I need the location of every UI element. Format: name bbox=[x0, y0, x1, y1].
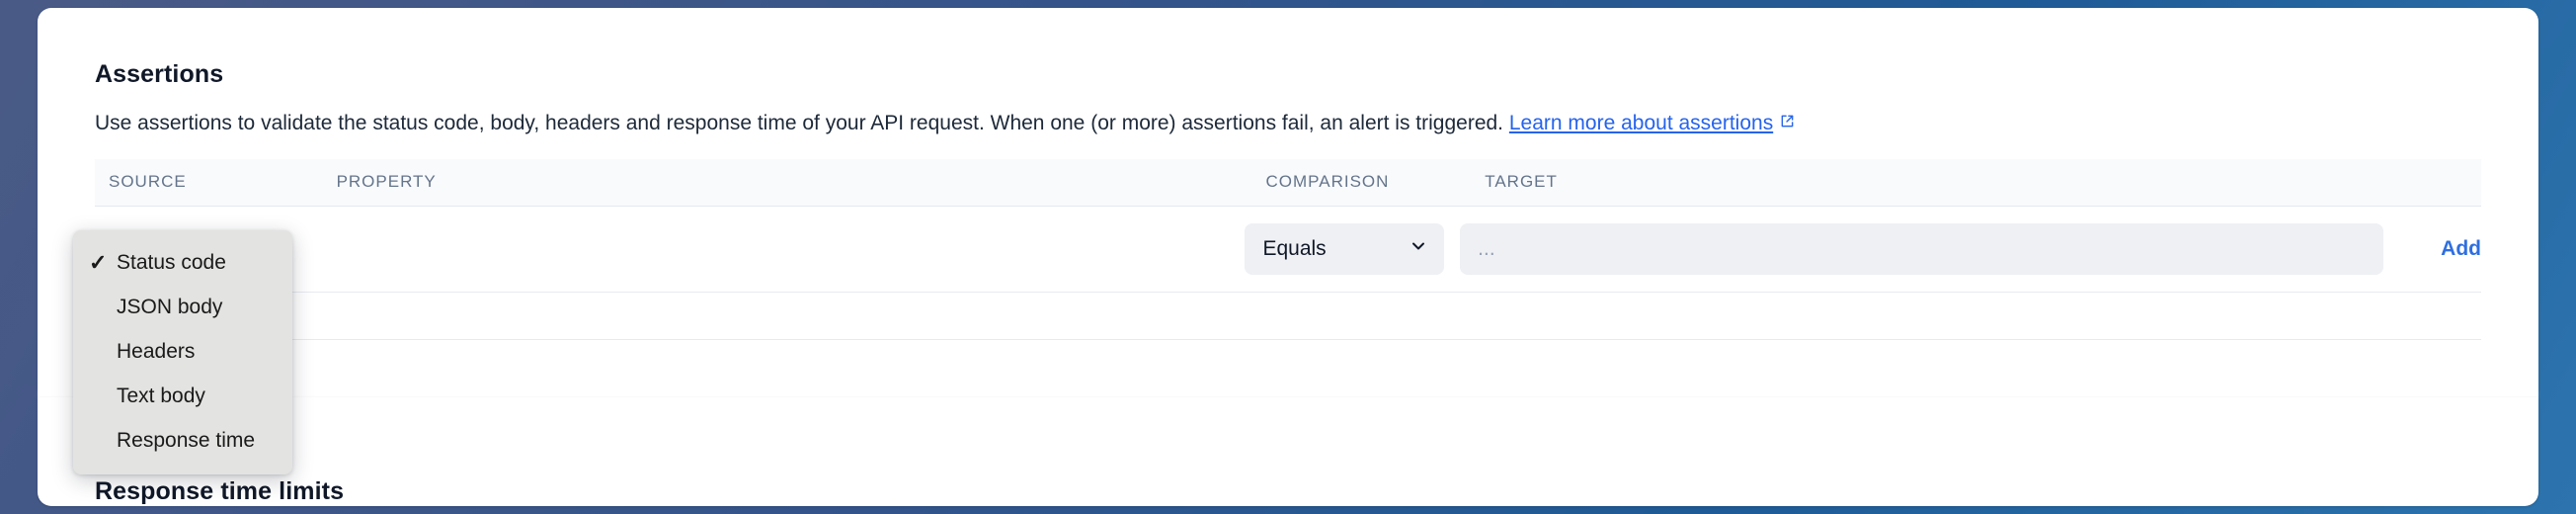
menu-item-label: Status code bbox=[117, 251, 226, 275]
external-link-icon[interactable] bbox=[1780, 114, 1795, 128]
menu-item-label: Text body bbox=[117, 385, 205, 408]
chevron-down-icon bbox=[1409, 236, 1428, 262]
assertion-action-cell: Add bbox=[2383, 237, 2481, 261]
comparison-select-value: Equals bbox=[1262, 237, 1326, 261]
add-button[interactable]: Add bbox=[2441, 237, 2481, 260]
menu-item-text-body[interactable]: Text body bbox=[73, 374, 292, 418]
row-divider-2 bbox=[95, 339, 2481, 340]
column-header-property: PROPERTY bbox=[337, 172, 1266, 192]
assertions-table: SOURCE PROPERTY COMPARISON TARGET Equals bbox=[95, 159, 2481, 340]
target-input[interactable] bbox=[1460, 223, 2383, 275]
response-time-limits-title: Response time limits bbox=[95, 477, 2481, 506]
learn-more-link[interactable]: Learn more about assertions bbox=[1509, 112, 1773, 134]
page-title: Assertions bbox=[95, 60, 2481, 89]
menu-item-label: Headers bbox=[117, 340, 195, 364]
menu-item-label: JSON body bbox=[117, 296, 222, 319]
assertions-table-header: SOURCE PROPERTY COMPARISON TARGET bbox=[95, 159, 2481, 207]
menu-item-status-code[interactable]: ✓ Status code bbox=[73, 240, 292, 285]
assertion-comparison-cell: Equals bbox=[1245, 223, 1460, 275]
check-icon: ✓ bbox=[89, 252, 107, 274]
response-time-limits-header: Response time limits bbox=[38, 397, 2538, 506]
assertion-target-cell bbox=[1460, 223, 2383, 275]
column-header-target: TARGET bbox=[1485, 172, 2424, 192]
menu-item-headers[interactable]: Headers bbox=[73, 329, 292, 374]
empty-row-1 bbox=[95, 293, 2481, 339]
response-time-limits-card: Response time limits bbox=[38, 397, 2538, 506]
assertions-header: Assertions Use assertions to validate th… bbox=[38, 8, 2538, 133]
assertion-row: Equals Add bbox=[95, 207, 2481, 292]
assertions-card: Assertions Use assertions to validate th… bbox=[38, 8, 2538, 389]
app-viewport: Assertions Use assertions to validate th… bbox=[0, 0, 2576, 514]
source-dropdown-menu[interactable]: ✓ Status code JSON body Headers Text bod… bbox=[73, 230, 292, 474]
comparison-select[interactable]: Equals bbox=[1245, 223, 1444, 275]
menu-item-label: Response time bbox=[117, 429, 255, 453]
assertions-description: Use assertions to validate the status co… bbox=[95, 113, 2481, 133]
column-header-comparison: COMPARISON bbox=[1266, 172, 1486, 192]
assertions-description-text: Use assertions to validate the status co… bbox=[95, 112, 1503, 134]
menu-item-json-body[interactable]: JSON body bbox=[73, 285, 292, 329]
column-header-source: SOURCE bbox=[95, 172, 337, 192]
menu-item-response-time[interactable]: Response time bbox=[73, 418, 292, 463]
